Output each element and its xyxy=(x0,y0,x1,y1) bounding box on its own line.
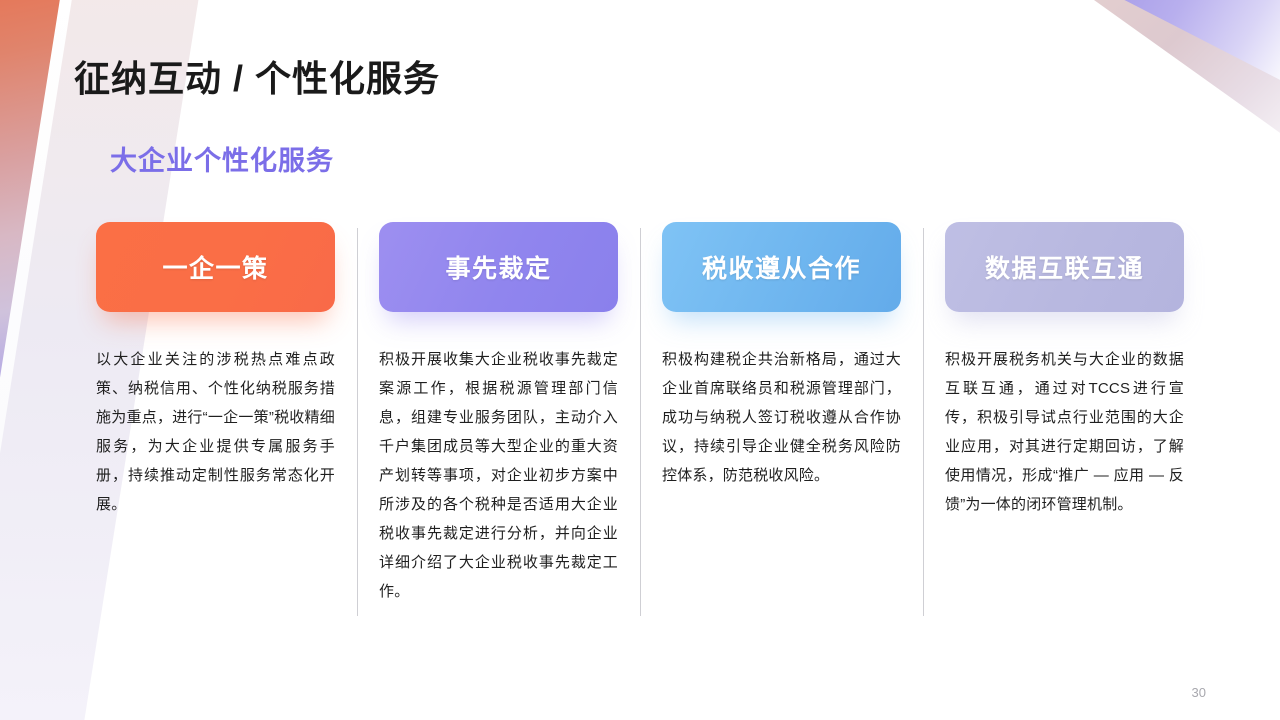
card-yiqiyice[interactable]: 一企一策 xyxy=(96,222,335,312)
card-shuishouzuncong[interactable]: 税收遵从合作 xyxy=(662,222,901,312)
card-label: 事先裁定 xyxy=(445,249,551,285)
top-right-pink-triangle-decoration xyxy=(1080,0,1280,140)
slide-canvas: 征纳互动 / 个性化服务 大企业个性化服务 一企一策 以大企业关注的涉税热点难点… xyxy=(0,0,1280,720)
card-shixiancaiding[interactable]: 事先裁定 xyxy=(379,222,618,312)
column-shuishouzuncong: 税收遵从合作 积极构建税企共治新格局，通过大企业首席联络员和税源管理部门，成功与… xyxy=(640,222,923,606)
card-body-text: 积极开展收集大企业税收事先裁定案源工作，根据税源管理部门信息，组建专业服务团队，… xyxy=(379,345,618,606)
section-subtitle: 大企业个性化服务 xyxy=(110,139,334,178)
card-shujuhulian[interactable]: 数据互联互通 xyxy=(945,222,1184,312)
card-label: 税收遵从合作 xyxy=(702,249,861,285)
card-body-text: 积极开展税务机关与大企业的数据互联互通，通过对TCCS进行宣传，积极引导试点行业… xyxy=(945,345,1184,519)
left-gradient-band-decoration xyxy=(0,0,72,720)
column-shixiancaiding: 事先裁定 积极开展收集大企业税收事先裁定案源工作，根据税源管理部门信息，组建专业… xyxy=(357,222,640,606)
card-body-text: 以大企业关注的涉税热点难点政策、纳税信用、个性化纳税服务措施为重点，进行“一企一… xyxy=(96,345,335,519)
page-number: 30 xyxy=(1192,685,1206,700)
content-columns: 一企一策 以大企业关注的涉税热点难点政策、纳税信用、个性化纳税服务措施为重点，进… xyxy=(74,222,1206,606)
column-yiqiyice: 一企一策 以大企业关注的涉税热点难点政策、纳税信用、个性化纳税服务措施为重点，进… xyxy=(74,222,357,606)
page-title: 征纳互动 / 个性化服务 xyxy=(74,50,440,102)
card-body-text: 积极构建税企共治新格局，通过大企业首席联络员和税源管理部门，成功与纳税人签订税收… xyxy=(662,345,901,490)
card-label: 一企一策 xyxy=(162,249,268,285)
top-right-purple-triangle-decoration xyxy=(1105,0,1280,85)
column-shujuhulian: 数据互联互通 积极开展税务机关与大企业的数据互联互通，通过对TCCS进行宣传，积… xyxy=(923,222,1206,606)
left-white-sliver-decoration xyxy=(0,0,74,720)
card-label: 数据互联互通 xyxy=(985,249,1144,285)
